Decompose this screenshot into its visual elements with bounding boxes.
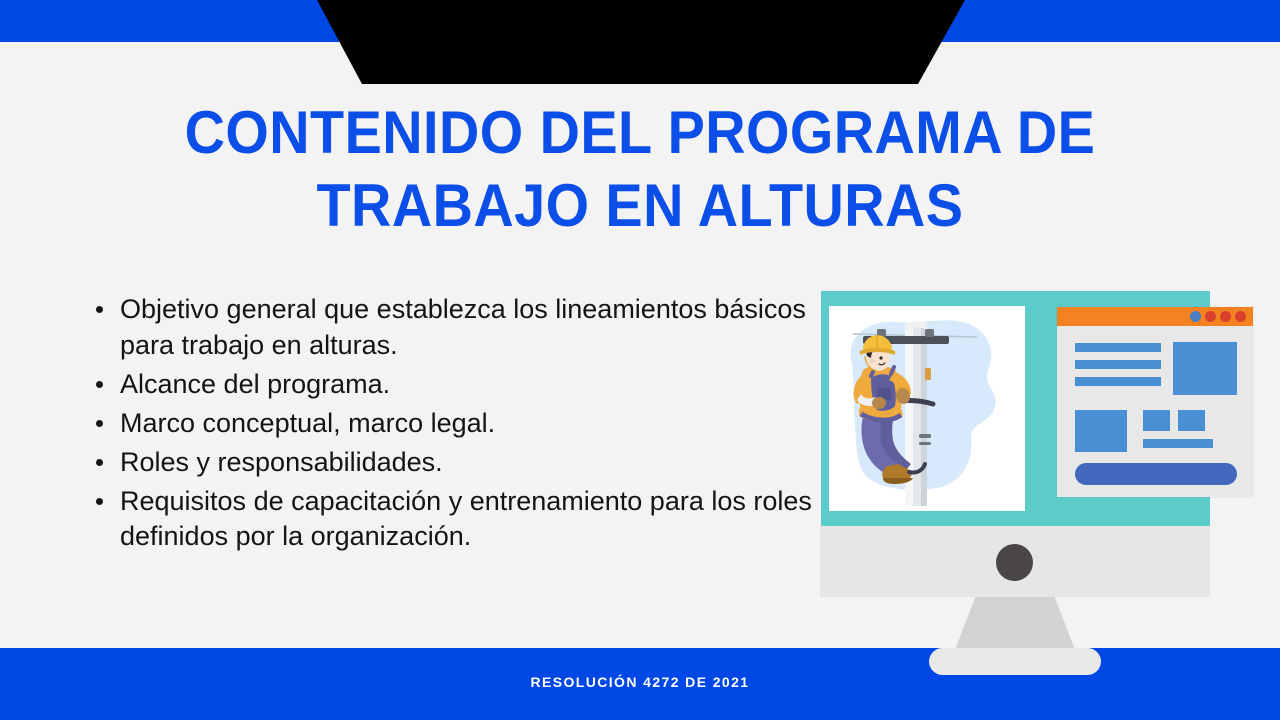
list-item-label: Roles y responsabilidades. (120, 447, 443, 477)
top-black-notch (0, 0, 1280, 86)
footer-caption: RESOLUCIÓN 4272 DE 2021 (0, 674, 1280, 690)
list-item: Roles y responsabilidades. (120, 445, 820, 481)
browser-window-mockup (1057, 307, 1253, 497)
bullet-dot-icon (96, 459, 103, 466)
thumbnail-placeholder (1143, 410, 1170, 431)
monitor-stand (953, 597, 1077, 655)
text-line-placeholder (1075, 343, 1161, 352)
bullet-dot-icon (96, 420, 103, 427)
text-line-placeholder (1075, 377, 1161, 386)
list-item-label: Marco conceptual, marco legal. (120, 408, 495, 438)
list-item-label: Objetivo general que establezca los line… (120, 294, 806, 360)
presentation-slide: CONTENIDO DEL PROGRAMA DE TRABAJO EN ALT… (0, 0, 1280, 720)
image-placeholder (1173, 342, 1237, 395)
list-item-label: Requisitos de capacitación y entrenamien… (120, 486, 812, 552)
page-title: CONTENIDO DEL PROGRAMA DE TRABAJO EN ALT… (156, 96, 1123, 242)
content-bullet-list: Objetivo general que establezca los line… (86, 292, 820, 558)
bullet-dot-icon (96, 381, 103, 388)
list-item: Requisitos de capacitación y entrenamien… (120, 484, 820, 556)
image-placeholder (1075, 410, 1127, 452)
monitor-power-button (996, 544, 1033, 581)
window-dot-blue-icon (1190, 311, 1201, 322)
window-dot-red-icon (1235, 311, 1246, 322)
text-line-placeholder (1143, 439, 1213, 448)
bullet-dot-icon (96, 306, 103, 313)
thumbnail-placeholder (1178, 410, 1205, 431)
window-dot-red-icon (1205, 311, 1216, 322)
list-item: Objetivo general que establezca los line… (120, 292, 820, 364)
worker-climbing-pole-illustration (829, 306, 1025, 511)
list-item: Marco conceptual, marco legal. (120, 406, 820, 442)
bullet-dot-icon (96, 498, 103, 505)
window-dot-red-icon (1220, 311, 1231, 322)
list-item: Alcance del programa. (120, 367, 820, 403)
text-line-placeholder (1075, 360, 1161, 369)
monitor-base (929, 648, 1101, 675)
cta-button-placeholder (1075, 463, 1237, 485)
list-item-label: Alcance del programa. (120, 369, 390, 399)
